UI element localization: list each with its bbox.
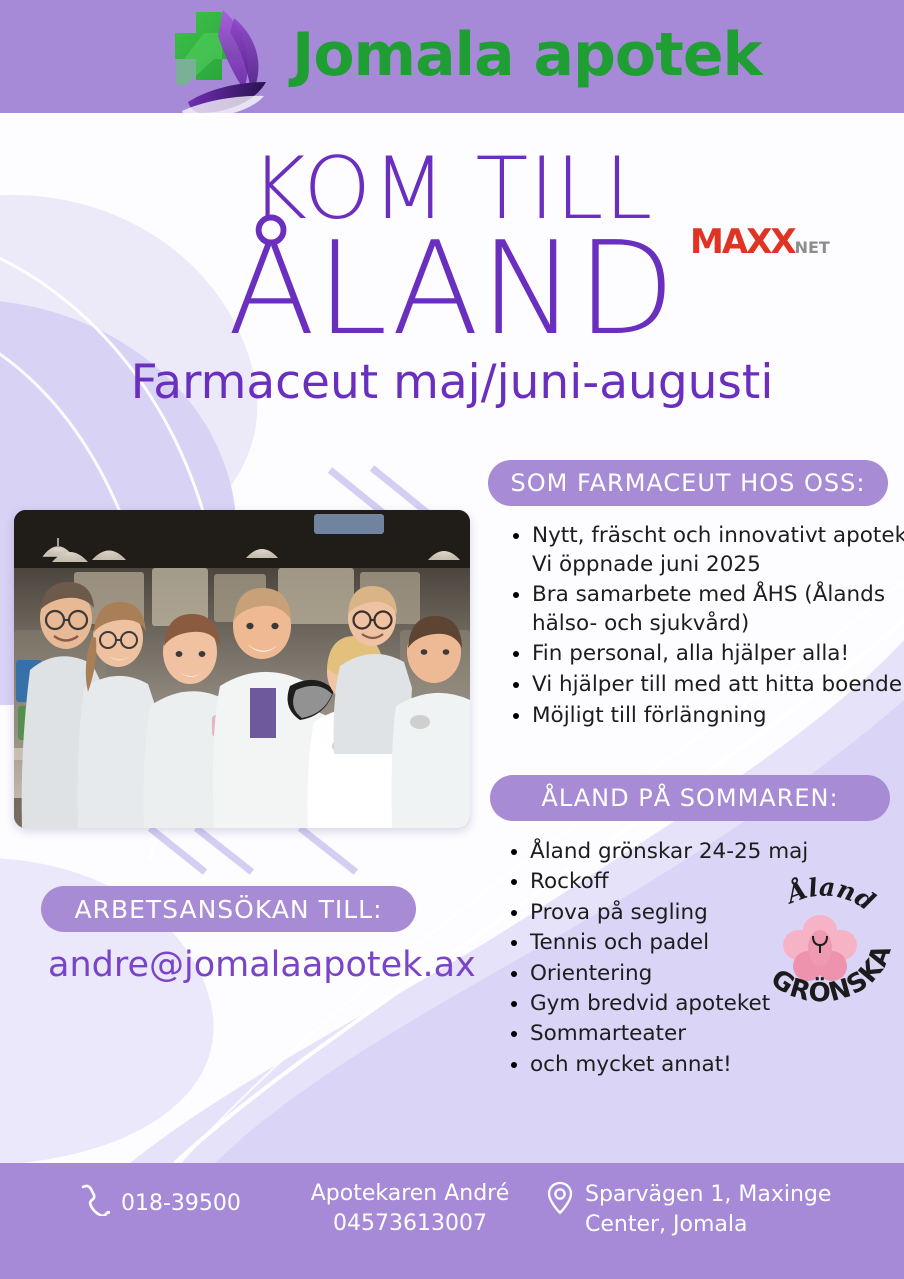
- list-item: Fin personal, alla hjälper alla!: [532, 640, 904, 669]
- footer-person-phone[interactable]: 04573613007: [300, 1209, 520, 1239]
- benefits-list: Nytt, fräscht och innovativt apotek. Vi …: [488, 522, 904, 732]
- list-item: och mycket annat!: [530, 1051, 904, 1079]
- maxxnet-secondary: NET: [795, 238, 830, 257]
- maxxnet-primary: MAXX: [690, 222, 795, 262]
- maxxnet-sponsor-logo: MAXXNET: [690, 222, 830, 262]
- badge-script-inner: Åland: [780, 872, 880, 916]
- map-pin-icon: [545, 1180, 575, 1225]
- footer-phone-number: 018-39500: [121, 1189, 241, 1219]
- list-item: Åland grönskar 24-25 maj: [530, 838, 904, 866]
- poster-root: Jomala apotek KOM TILL ÅLAND Farmaceut m…: [0, 0, 904, 1279]
- section-heading-aland-sommaren: ÅLAND PÅ SOMMAREN:: [490, 775, 890, 821]
- badge-script-text: Åland: [780, 872, 880, 916]
- footer-address-text: Sparvägen 1, Maxinge Center, Jomala: [585, 1180, 855, 1239]
- footer-person-name: Apotekaren André: [300, 1179, 520, 1209]
- footer-address-line2: Center, Jomala: [585, 1212, 748, 1237]
- list-item: Möjligt till förlängning: [532, 702, 904, 731]
- application-heading: ARBETSANSÖKAN TILL:: [41, 886, 416, 932]
- footer-contact-person: Apotekaren André 04573613007: [300, 1179, 520, 1238]
- list-item: Nytt, fräscht och innovativt apotek. Vi …: [532, 522, 904, 579]
- five-petal-flower-icon: [783, 915, 857, 981]
- job-subtitle: Farmaceut maj/juni-augusti: [0, 355, 904, 410]
- brand-name: Jomala apotek: [292, 20, 761, 90]
- phone-icon: [78, 1182, 110, 1225]
- list-item: Vi hjälper till med att hitta boende: [532, 671, 904, 700]
- list-item: Bra samarbete med ÅHS (Ålands hälso- och…: [532, 581, 904, 638]
- aland-gronskar-badge: Åland GRÖNSKAR: [748, 872, 893, 1027]
- footer-address: Sparvägen 1, Maxinge Center, Jomala: [545, 1180, 855, 1239]
- application-email[interactable]: andre@jomalaapotek.ax: [48, 945, 476, 985]
- footer-phone[interactable]: 018-39500: [78, 1182, 241, 1225]
- section-heading-som-farmaceut: SOM FARMACEUT HOS OSS:: [488, 460, 888, 506]
- pharmacy-team-photo: [14, 510, 470, 828]
- footer-address-line1: Sparvägen 1, Maxinge: [585, 1182, 831, 1207]
- pharmacy-cross-sailboat-logo: [148, 2, 283, 120]
